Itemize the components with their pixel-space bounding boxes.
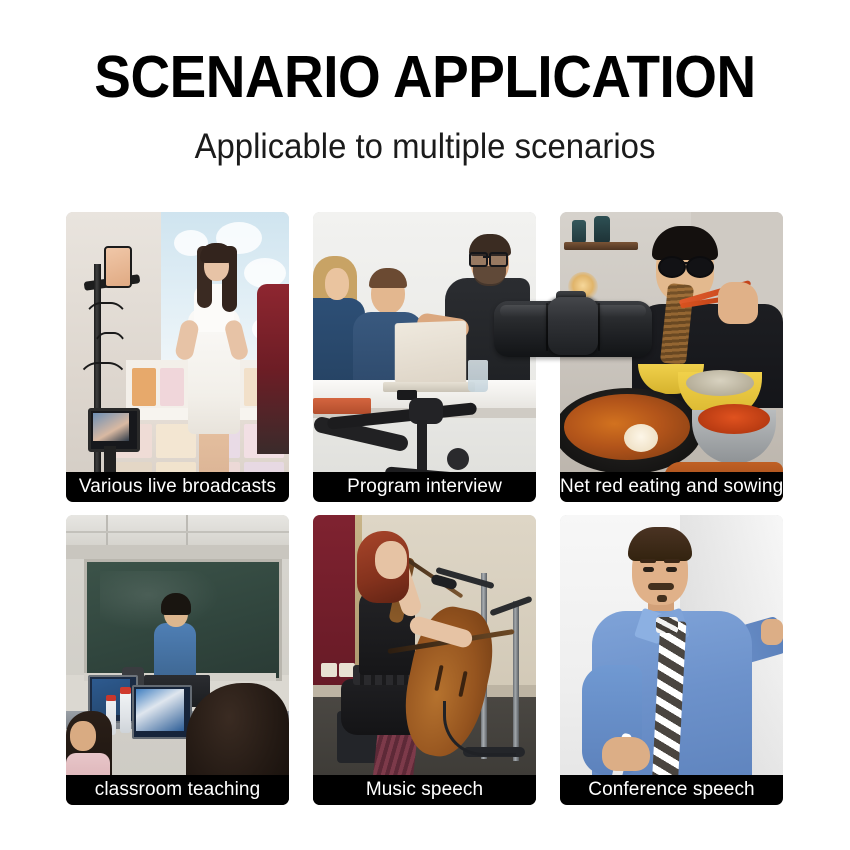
photo-program-interview — [313, 212, 536, 502]
photo-music-speech — [313, 515, 536, 805]
photo-live-broadcast — [66, 212, 289, 502]
tile-caption: Net red eating and sowing — [560, 472, 783, 502]
photo-classroom — [66, 515, 289, 805]
scenario-tile-classroom[interactable]: classroom teaching — [66, 515, 289, 805]
scenario-tile-program-interview[interactable]: Program interview — [313, 212, 536, 502]
tile-caption: Various live broadcasts — [66, 472, 289, 502]
page-title: SCENARIO APPLICATION — [30, 46, 821, 108]
photo-mukbang — [560, 212, 783, 502]
tile-caption: Music speech — [313, 775, 536, 805]
scenario-application-page: SCENARIO APPLICATION Applicable to multi… — [0, 0, 850, 850]
page-subtitle: Applicable to multiple scenarios — [26, 126, 825, 168]
scenario-tile-conference-speech[interactable]: Conference speech — [560, 515, 783, 805]
tile-caption: Program interview — [313, 472, 536, 502]
photo-conference-speech — [560, 515, 783, 805]
scenario-tile-mukbang[interactable]: Net red eating and sowing — [560, 212, 783, 502]
scenario-tile-music-speech[interactable]: Music speech — [313, 515, 536, 805]
scenario-tile-live-broadcast[interactable]: Various live broadcasts — [66, 212, 289, 502]
tile-caption: Conference speech — [560, 775, 783, 805]
header: SCENARIO APPLICATION Applicable to multi… — [0, 46, 850, 168]
scenario-grid: Various live broadcasts — [66, 212, 784, 805]
tile-caption: classroom teaching — [66, 775, 289, 805]
